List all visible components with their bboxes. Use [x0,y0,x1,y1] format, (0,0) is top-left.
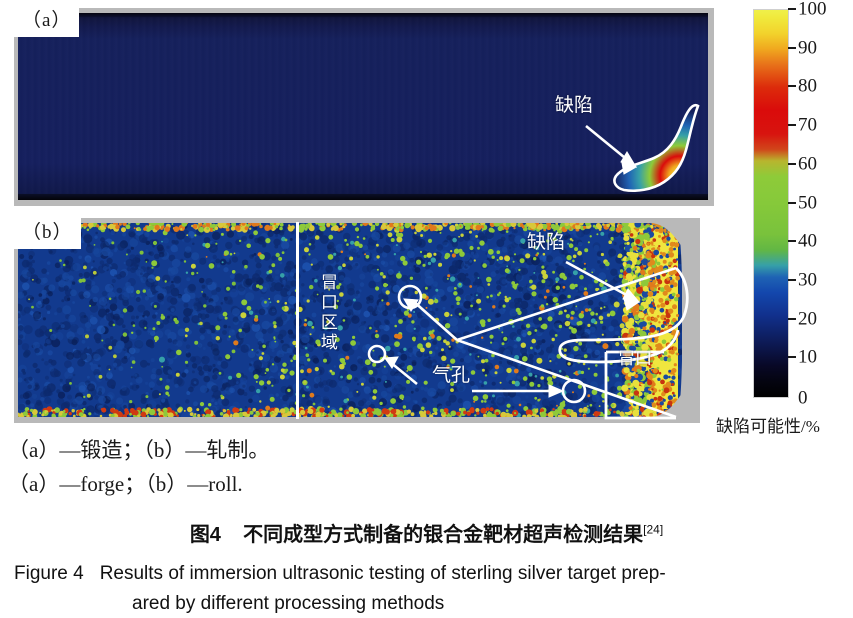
panel-b-roll [14,218,700,423]
figure-reference-marker: [24] [643,523,663,537]
panel-a-scan-field [18,13,708,200]
figure-image: （a） （b） 缺陷 缺陷 冒口区域 气孔 冒口 010203040506070… [0,0,853,440]
panel-a-top-rim [18,13,708,17]
panel-b-riser-divider-line [296,222,299,419]
colorbar-tick-60 [788,163,796,165]
colorbar-tick-label-100: 100 [798,0,827,19]
panel-b-riser-label: 冒口 [618,350,652,368]
figure-title-chinese: 图4 不同成型方式制备的银合金靶材超声检测结果[24] [0,518,853,547]
panel-b-speckle-texture [18,223,682,417]
panel-b-tag: （b） [14,218,81,249]
panel-a-defect-label: 缺陷 [555,96,593,116]
figure-title-english-line1: Results of immersion ultrasonic testing … [100,563,666,584]
colorbar-tick-90 [788,47,796,49]
colorbar-tick-label-20: 20 [798,309,817,328]
figure-title-english: Figure 4Results of immersion ultrasonic … [0,559,853,618]
figure-title-text-chinese: 不同成型方式制备的银合金靶材超声检测结果 [243,524,643,546]
panel-b-riser-area-label: 冒口区域 [318,273,336,353]
colorbar-tick-40 [788,240,796,242]
colorbar-tick-label-90: 90 [798,38,817,57]
colorbar-tick-50 [788,202,796,204]
colorbar-tick-100 [788,8,796,10]
figure-number-chinese: 图4 [190,524,221,546]
figure-captions: （a）—锻造；（b）—轧制。 （a）—forge；（b）—roll. 图4 不同… [0,434,853,618]
colorbar-tick-70 [788,124,796,126]
sub-caption-chinese: （a）—锻造；（b）—轧制。 [8,434,853,468]
sub-caption-english: （a）—forge；（b）—roll. [8,468,853,502]
colorbar-tick-label-10: 10 [798,348,817,367]
colorbar-tick-80 [788,85,796,87]
colorbar-gradient [753,9,789,398]
panel-a-tag: （a） [14,6,79,37]
figure-title-english-line2: ared by different processing methods [14,589,853,618]
colorbar-tick-label-30: 30 [798,270,817,289]
panel-a-bottom-rim [18,194,708,200]
colorbar-tick-label-0: 0 [798,389,808,408]
colorbar-tick-label-50: 50 [798,193,817,212]
colorbar-tick-label-40: 40 [798,232,817,251]
panel-a-defect-region [610,102,706,198]
panel-b-defect-label: 缺陷 [527,233,565,253]
colorbar-tick-label-60: 60 [798,154,817,173]
panel-a-forge [14,8,714,206]
colorbar-group: 0102030405060708090100 缺陷可能性/% [745,0,853,440]
panel-b-pore-label: 气孔 [432,366,470,386]
colorbar-tick-10 [788,356,796,358]
colorbar-tick-30 [788,279,796,281]
figure-number-english: Figure 4 [14,563,84,584]
colorbar-tick-20 [788,318,796,320]
panel-b-scan-field [18,223,682,417]
colorbar-tick-label-80: 80 [798,77,817,96]
colorbar-tick-label-70: 70 [798,116,817,135]
